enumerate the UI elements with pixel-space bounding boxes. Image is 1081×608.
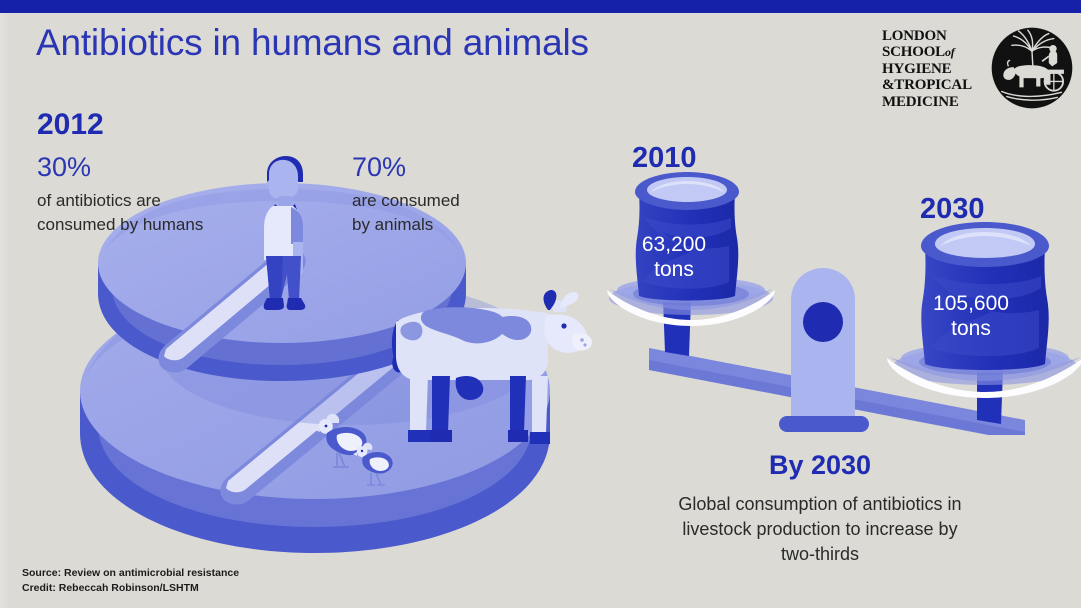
scale-year-2010: 2010 [632, 142, 697, 175]
caption-heading: By 2030 [600, 450, 1040, 481]
caption-body-line-2: livestock production to increase by [610, 517, 1030, 542]
chicken-small [353, 443, 393, 485]
shoe-right [287, 298, 306, 310]
caption-body: Global consumption of antibiotics in liv… [610, 492, 1030, 567]
page-title: Antibiotics in humans and animals [36, 22, 589, 64]
scale-year-2030: 2030 [920, 193, 985, 226]
logo-line-school-of: SCHOOLof [882, 44, 982, 60]
shoe-left [264, 298, 284, 310]
horn-front [560, 292, 578, 308]
infographic-canvas: Antibiotics in humans and animals LONDON… [0, 0, 1081, 608]
fulcrum-base [779, 416, 869, 432]
cow-muzzle [572, 333, 592, 350]
animals-desc-line-1: are consumed [352, 189, 460, 213]
sack-opening [647, 177, 727, 202]
logo-line-london: LONDON [882, 28, 982, 44]
stat-year-2012: 2012 [37, 108, 104, 142]
lshtm-crest-icon [990, 26, 1074, 110]
eye [325, 425, 328, 428]
leg-front-near [510, 376, 526, 432]
lshtm-logo: LONDON SCHOOLof HYGIENE &TROPICAL MEDICI… [882, 26, 1070, 124]
humans-desc-line-1: of antibiotics are [37, 189, 203, 213]
value-2030-number: 105,600 [915, 291, 1027, 316]
legs [333, 453, 349, 467]
eye [361, 450, 363, 452]
fulcrum-body [791, 268, 855, 418]
chicken-large [315, 414, 366, 467]
logo-text-of: of [945, 45, 955, 59]
scale-value-2030: 105,600 tons [915, 291, 1027, 341]
value-2010-number: 63,200 [627, 232, 721, 257]
logo-wordmark: LONDON SCHOOLof HYGIENE &TROPICAL MEDICI… [882, 28, 982, 110]
stat-percent-animals: 70% [352, 152, 406, 183]
stat-description-humans: of antibiotics are consumed by humans [37, 189, 203, 237]
logo-text-school: SCHOOL [882, 44, 945, 60]
top-accent-bar [0, 0, 1081, 13]
source-line: Source: Review on antimicrobial resistan… [22, 566, 239, 581]
source-credit-block: Source: Review on antimicrobial resistan… [22, 566, 239, 596]
sleeve [291, 207, 303, 244]
stat-percent-humans: 30% [37, 152, 91, 183]
scale-value-2010: 63,200 tons [627, 232, 721, 282]
hoof-front-near [508, 430, 528, 442]
credit-line: Credit: Rebeccah Robinson/LSHTM [22, 581, 239, 596]
head [269, 160, 298, 198]
human-figure-illustration [253, 152, 323, 312]
value-2010-unit: tons [627, 257, 721, 282]
legs [367, 473, 385, 485]
hoof-front-far [530, 432, 550, 444]
animals-desc-line-2: by animals [352, 213, 460, 237]
caption-body-line-1: Global consumption of antibiotics in [610, 492, 1030, 517]
cow-eye [561, 323, 566, 328]
logo-line-tropical: &TROPICAL [882, 77, 982, 93]
leg-front-far [532, 376, 548, 434]
chickens-illustration [315, 405, 435, 495]
fulcrum-pivot [803, 302, 843, 342]
humans-desc-line-2: consumed by humans [37, 213, 203, 237]
value-2030-unit: tons [915, 316, 1027, 341]
stat-description-animals: are consumed by animals [352, 189, 460, 237]
logo-line-hygiene: HYGIENE [882, 61, 982, 77]
left-edge-highlight [0, 13, 10, 608]
logo-line-medicine: MEDICINE [882, 94, 982, 110]
caption-body-line-3: two-thirds [610, 542, 1030, 567]
